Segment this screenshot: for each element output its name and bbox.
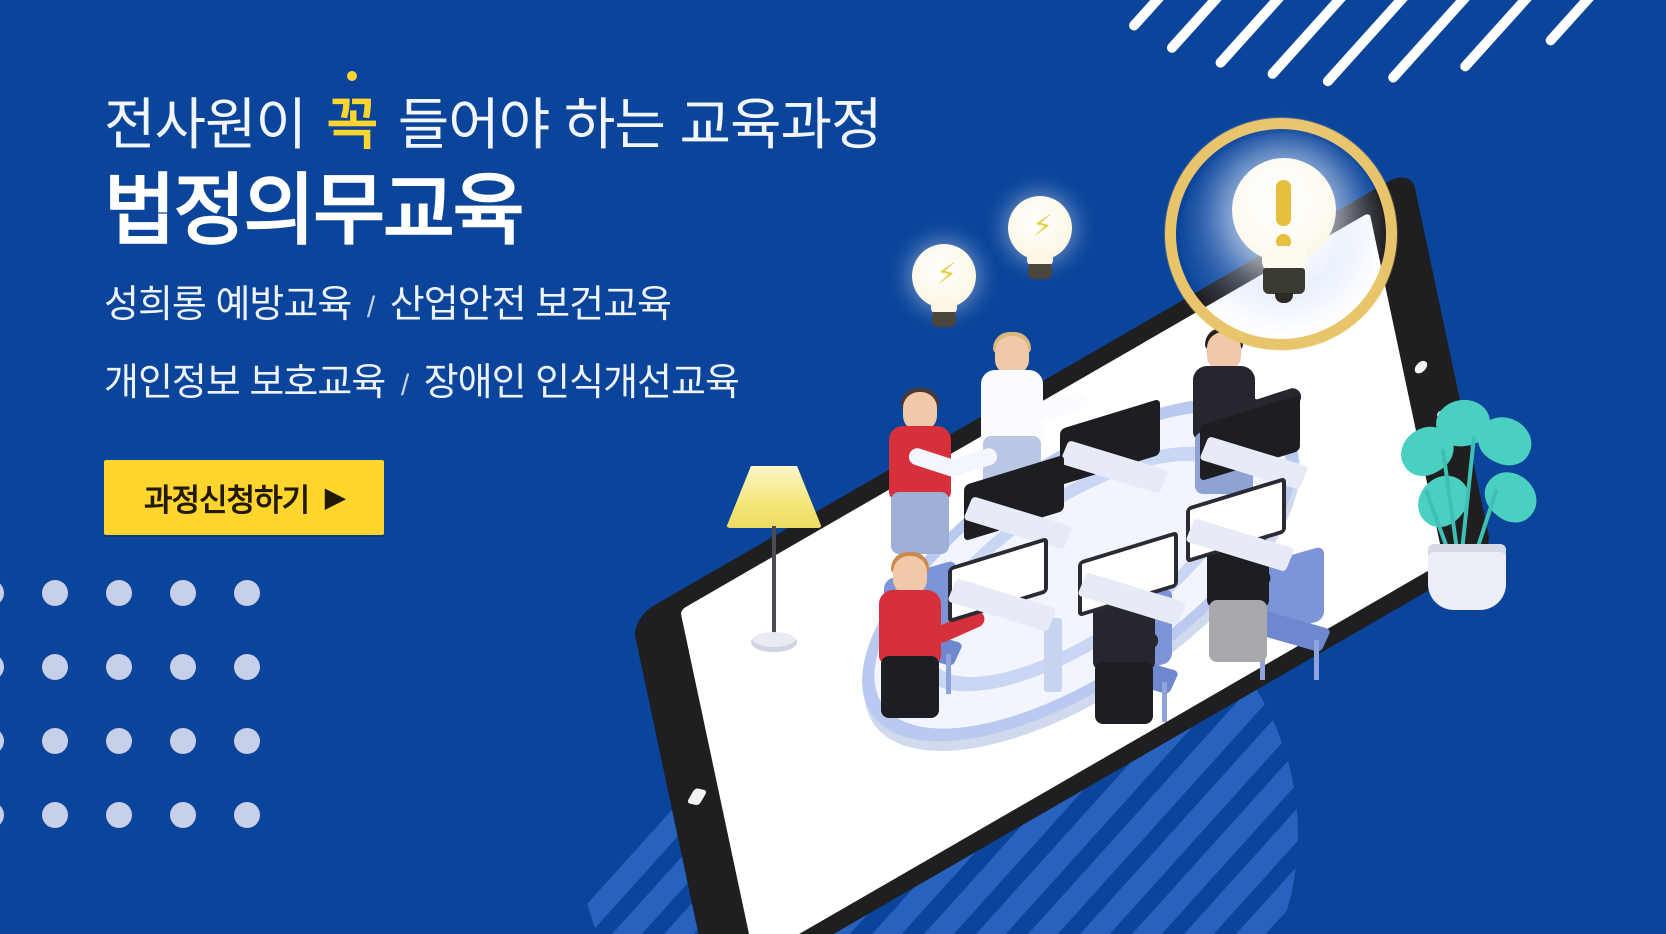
course-label: 장애인 인식개선교육: [424, 362, 739, 404]
bulb-base: [1263, 268, 1305, 294]
lamp-base: [751, 632, 797, 652]
course-label: 성희롱 예방교육: [104, 284, 351, 326]
laptop: [1186, 492, 1290, 560]
potted-plant: [1392, 392, 1552, 612]
promo-banner: ⚡ ⚡ 전사원이 꼭 들어야 하는 교육과정 법정의무교육 성희롱: [0, 0, 1666, 934]
page-title: 법정의무교육: [104, 168, 1064, 252]
kicker-highlight: 꼭: [321, 93, 384, 156]
laptop: [1060, 414, 1164, 482]
kicker-text-before: 전사원이: [104, 93, 306, 156]
banner-kicker: 전사원이 꼭 들어야 하는 교육과정: [104, 92, 1064, 158]
laptop: [1200, 410, 1304, 478]
course-label: 산업안전 보건교육: [390, 284, 671, 326]
legs: [1209, 600, 1267, 662]
apply-course-button[interactable]: 과정신청하기 ▶: [104, 460, 384, 535]
head: [893, 556, 927, 594]
course-list-line-2: 개인정보 보호교육 / 장애인 인식개선교육: [104, 364, 1064, 402]
exclamation-mark-icon: [1276, 180, 1291, 226]
play-triangle-icon: ▶: [325, 484, 344, 510]
course-label: 개인정보 보호교육: [104, 362, 385, 404]
lamp-pole: [772, 526, 776, 638]
banner-copy: 전사원이 꼭 들어야 하는 교육과정 법정의무교육 성희롱 예방교육 / 산업안…: [104, 92, 1064, 535]
legs: [1095, 662, 1153, 724]
plant-pot: [1428, 544, 1506, 610]
kicker-text-after: 들어야 하는 교육과정: [398, 93, 882, 156]
laptop: [1078, 546, 1182, 614]
laptop: [948, 552, 1052, 620]
apply-course-button-label: 과정신청하기: [144, 475, 309, 520]
torso: [879, 590, 941, 664]
legs: [881, 656, 939, 718]
lightbulb-icon: [1232, 158, 1336, 308]
separator: /: [395, 369, 414, 402]
course-list-line-1: 성희롱 예방교육 / 산업안전 보건교육: [104, 286, 1064, 324]
separator: /: [361, 291, 380, 324]
